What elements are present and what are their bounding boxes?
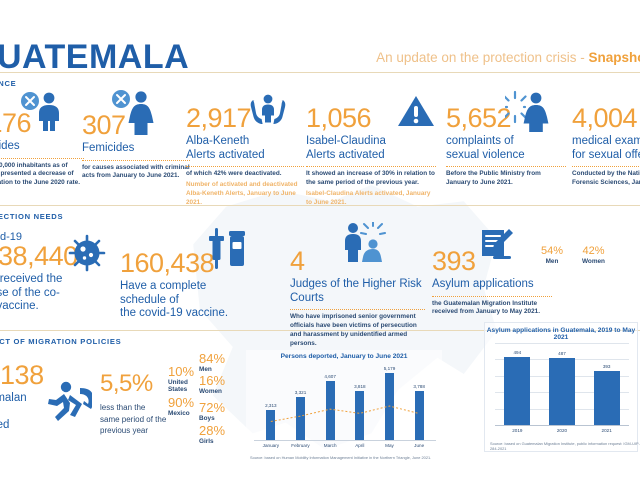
infographic-page: GUATEMALA An update on the protection cr… xyxy=(0,0,640,480)
header-subtitle-bold: Snapshot xyxy=(588,50,640,65)
stat-medical-examinations-note: Conducted by the National Institute of F… xyxy=(572,170,640,188)
dotted-rule xyxy=(186,166,304,167)
stat-medical-examinations-value: 4,004 xyxy=(572,105,640,132)
stat-femicides-headline: Femicides xyxy=(82,142,190,156)
stat-medical-examinations-headline: medical examinations for sexual offenses xyxy=(572,135,640,162)
asylum-pct-men-value: 54% xyxy=(541,246,563,257)
persons-deported-categories: JanuaryFebruaryMarchAprilMayJune xyxy=(256,443,434,453)
bar-value-label: 487 xyxy=(548,351,576,356)
male-victim-icon xyxy=(18,90,64,132)
asylum-applications-chart-title: Asylum applications in Guatemala, 2019 t… xyxy=(485,327,637,341)
woman-sexual-violence-icon xyxy=(505,90,557,132)
demo-girls-label: Girls xyxy=(199,438,225,445)
trend-line xyxy=(256,368,434,440)
stat-sexual-violence-complaints-headline: complaints of sexual violence xyxy=(446,135,566,162)
asylum-pct-men: 54% Men xyxy=(541,246,563,265)
female-victim-icon xyxy=(110,88,160,136)
demo-boys-label: Boys xyxy=(199,415,225,422)
asylum-pct-women-label: Women xyxy=(582,258,605,265)
header: GUATEMALA An update on the protection cr… xyxy=(0,18,640,66)
category-label: 2020 xyxy=(542,428,582,433)
dotted-rule xyxy=(290,309,425,310)
demo-boys-value: 72% xyxy=(199,401,225,414)
category-label: June xyxy=(399,443,439,448)
stat-judges: 4 Judges of the Higher Risk Courts Who h… xyxy=(290,248,425,348)
virus-icon xyxy=(66,232,108,274)
warning-triangle-icon xyxy=(396,94,436,130)
category-label: 2019 xyxy=(497,428,537,433)
demo-men-label: Men xyxy=(199,366,225,373)
section-label-violence: VIOLENCE xyxy=(0,79,16,88)
stat-isabel-claudina-source: Isabel-Claudina Alerts activated, Januar… xyxy=(306,190,436,208)
dotted-rule xyxy=(572,166,640,167)
origin-mexico-label: Mexico xyxy=(168,410,194,417)
stat-alba-keneth-headline: Alba-Keneth Alerts activated xyxy=(186,135,304,162)
page-title: GUATEMALA xyxy=(0,38,189,77)
section-label-migration: IMPACT OF MIGRATION POLICIES xyxy=(0,337,121,346)
header-subtitle-plain: An update on the protection crisis - xyxy=(376,50,588,65)
stat-alba-keneth-source: Number of activated and deactivated Alba… xyxy=(186,181,304,207)
document-pen-icon xyxy=(479,228,515,262)
dotted-rule xyxy=(0,158,84,159)
bar-value-label: 494 xyxy=(503,350,531,355)
demo-girls: 28% Girls xyxy=(199,424,225,445)
category-label: 2021 xyxy=(587,428,627,433)
asylum-applications-bars: 494487393 xyxy=(495,343,629,425)
demo-women: 16% Women xyxy=(199,374,225,395)
stat-femicides-note: for causes associated with criminal acts… xyxy=(82,164,190,182)
bar xyxy=(549,358,575,425)
stat-first-dose-headline: people received the first dose of the co… xyxy=(0,273,82,314)
asylum-pct-men-label: Men xyxy=(541,258,563,265)
header-subtitle: An update on the protection crisis - Sna… xyxy=(376,50,640,65)
persons-deported-chart-title: Persons deported, January to June 2021 xyxy=(246,353,442,360)
demo-women-label: Women xyxy=(199,388,225,395)
x-axis-line xyxy=(495,425,629,426)
stat-asylum-applications-headline: Asylum applications xyxy=(432,278,552,292)
origin-mexico: 90% Mexico xyxy=(168,396,194,417)
stat-homicides-headline: Homicides xyxy=(0,140,84,154)
origin-united-states-label: United States xyxy=(168,379,194,393)
bar xyxy=(594,371,620,425)
x-axis-line xyxy=(254,440,436,441)
syringe-vial-icon xyxy=(203,228,251,270)
asylum-applications-chart-source: Source: based on Guatemalan Migration In… xyxy=(490,441,640,451)
asylum-applications-categories: 201920202021 xyxy=(495,428,629,438)
dotted-rule xyxy=(82,160,190,161)
asylum-pct-women-value: 42% xyxy=(582,246,605,257)
stat-complete-schedule-headline: Have a complete schedule of the covid-19… xyxy=(120,280,260,321)
stat-sexual-violence-complaints-note: Before the Public Ministry from January … xyxy=(446,170,566,188)
persons-deported-chart: Persons deported, January to June 2021 2… xyxy=(246,350,442,468)
stat-judges-note: Who have imprisoned senior government of… xyxy=(290,313,425,348)
origin-united-states-value: 10% xyxy=(168,365,194,378)
section-label-needs: PROTECTION NEEDS xyxy=(0,212,63,221)
bar-value-label: 393 xyxy=(593,364,621,369)
stat-alba-keneth-note: of which 42% were deactivated. xyxy=(186,170,304,179)
origin-united-states: 10% United States xyxy=(168,365,194,393)
stat-isabel-claudina-note: It showed an increase of 30% in relation… xyxy=(306,170,436,188)
running-person-return-icon xyxy=(44,380,92,426)
dotted-rule xyxy=(306,166,436,167)
persons-deported-chart-source: Source: based on Human Mobility Informat… xyxy=(250,455,442,460)
stat-medical-examinations: 4,004 medical examinations for sexual of… xyxy=(572,105,640,188)
dotted-rule xyxy=(446,166,566,167)
demo-boys: 72% Boys xyxy=(199,401,225,422)
asylum-applications-chart: Asylum applications in Guatemala, 2019 t… xyxy=(484,322,638,452)
bar xyxy=(504,357,530,425)
dotted-rule xyxy=(432,296,552,297)
persecution-icon xyxy=(340,222,390,262)
stat-judges-headline: Judges of the Higher Risk Courts xyxy=(290,278,425,305)
demo-men-value: 84% xyxy=(199,352,225,365)
origin-mexico-value: 90% xyxy=(168,396,194,409)
stat-asylum-applications-note: the Guatemalan Migration Institute recei… xyxy=(432,300,552,318)
stat-isabel-claudina-headline: Isabel-Claudina Alerts activated xyxy=(306,135,436,162)
demo-girls-value: 28% xyxy=(199,424,225,437)
stat-homicides-note: 16.4 per 100,000 inhabitants as of June … xyxy=(0,162,84,188)
asylum-pct-women: 42% Women xyxy=(582,246,605,265)
demo-women-value: 16% xyxy=(199,374,225,387)
demo-men: 84% Men xyxy=(199,352,225,373)
hands-child-icon xyxy=(246,92,290,128)
persons-deported-bars: 2,3133,3214,6073,8185,1793,788 xyxy=(256,368,434,440)
